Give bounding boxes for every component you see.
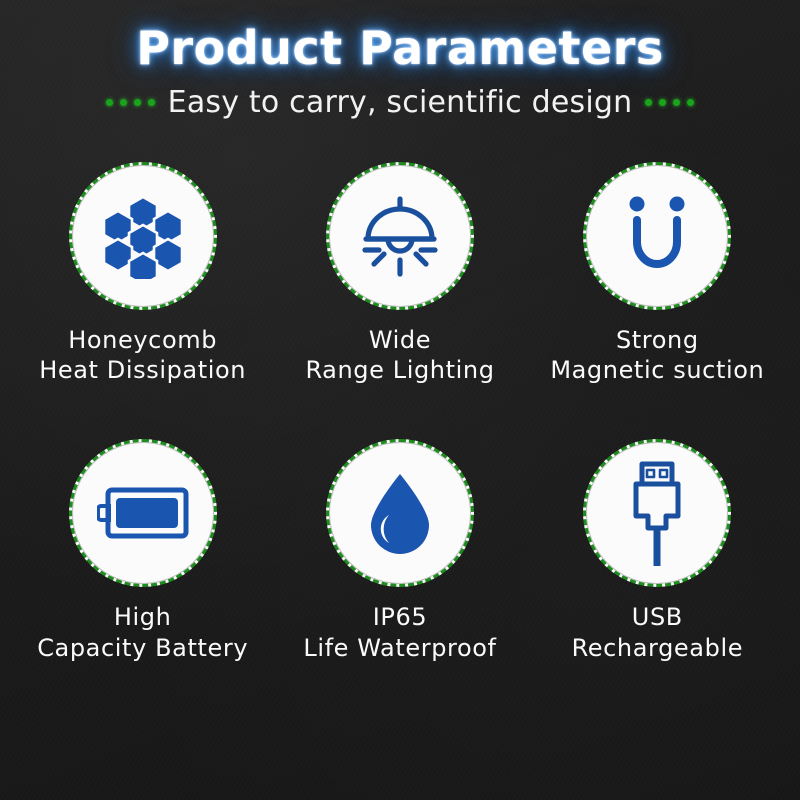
feature-caption: High Capacity Battery: [37, 602, 248, 662]
battery-full-icon: [97, 486, 189, 540]
feature-caption-line2: Rechargeable: [572, 633, 744, 663]
feature-icon-circle: [326, 439, 474, 587]
feature-caption: Wide Range Lighting: [305, 325, 494, 385]
usb-cable-icon: [626, 458, 688, 568]
feature-item-battery: High Capacity Battery: [14, 439, 271, 662]
feature-item-waterproof: IP65 Life Waterproof: [271, 439, 528, 662]
feature-caption-line2: Heat Dissipation: [39, 355, 246, 385]
feature-caption: Honeycomb Heat Dissipation: [39, 325, 246, 385]
green-dot-icon: [659, 99, 666, 106]
water-drop-icon: [367, 471, 433, 555]
ceiling-lamp-icon: [357, 194, 443, 278]
feature-item-usb: USB Rechargeable: [529, 439, 786, 662]
feature-caption-line1: Strong: [616, 326, 699, 354]
left-dots-decoration: [106, 99, 155, 106]
feature-caption-line2: Life Waterproof: [303, 633, 496, 663]
green-dot-icon: [673, 99, 680, 106]
feature-item-magnet: Strong Magnetic suction: [529, 162, 786, 385]
header: Product Parameters Easy to carry, scient…: [0, 0, 800, 120]
green-dot-icon: [645, 99, 652, 106]
feature-caption: USB Rechargeable: [572, 602, 744, 662]
feature-caption: IP65 Life Waterproof: [303, 602, 496, 662]
product-parameters-infographic: Product Parameters Easy to carry, scient…: [0, 0, 800, 800]
green-dot-icon: [134, 99, 141, 106]
page-subtitle: Easy to carry, scientific design: [168, 85, 633, 120]
feature-icon-circle: [326, 162, 474, 310]
feature-icon-circle: [69, 162, 217, 310]
feature-icon-circle: [583, 162, 731, 310]
honeycomb-icon: [99, 193, 187, 279]
subtitle-row: Easy to carry, scientific design: [0, 85, 800, 120]
green-dot-icon: [148, 99, 155, 106]
feature-caption-line1: Wide: [369, 326, 431, 354]
feature-caption-line1: USB: [632, 603, 683, 631]
green-dot-icon: [106, 99, 113, 106]
green-dot-icon: [120, 99, 127, 106]
feature-caption: Strong Magnetic suction: [550, 325, 764, 385]
feature-icon-circle: [69, 439, 217, 587]
page-title: Product Parameters: [0, 22, 800, 75]
feature-item-lighting: Wide Range Lighting: [271, 162, 528, 385]
feature-item-honeycomb: Honeycomb Heat Dissipation: [14, 162, 271, 385]
feature-caption-line2: Range Lighting: [305, 355, 494, 385]
feature-caption-line2: Magnetic suction: [550, 355, 764, 385]
right-dots-decoration: [645, 99, 694, 106]
green-dot-icon: [687, 99, 694, 106]
feature-caption-line1: Honeycomb: [68, 326, 217, 354]
feature-caption-line2: Capacity Battery: [37, 633, 248, 663]
feature-caption-line1: IP65: [373, 603, 428, 631]
feature-caption-line1: High: [114, 603, 172, 631]
feature-grid: Honeycomb Heat Dissipation: [0, 162, 800, 663]
horseshoe-magnet-icon: [621, 194, 693, 278]
feature-icon-circle: [583, 439, 731, 587]
